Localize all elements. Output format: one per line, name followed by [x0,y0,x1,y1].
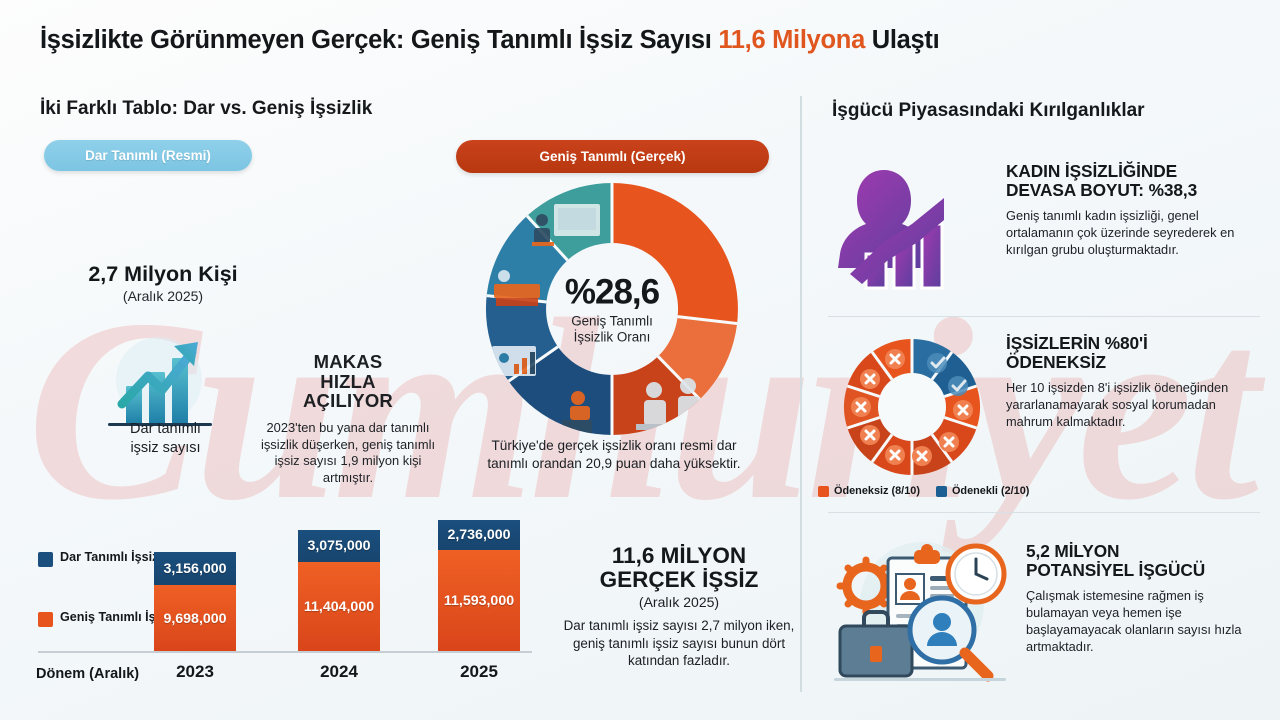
x-tick-2023: 2023 [154,662,236,682]
bar-segment-narrow-2024: 3,075,000 [298,530,380,562]
job-search-illustration-icon [826,530,1012,695]
narrow-stat-value: 2,7 Milyon Kişi [38,262,288,287]
right-section-heading: İşgücü Piyasasındaki Kırılganlıklar [832,100,1145,122]
unemployment-bar-chart: Dar Tanımlı İşsiz Sayısı Geniş Tanımlı İ… [34,512,534,694]
legend-swatch-odenekli [936,486,947,497]
legend-swatch-odeneksiz [818,486,829,497]
bar-segment-broad-2025: 11,593,000 [438,550,520,652]
bar-column-2024: 3,075,000 11,404,000 [298,530,380,652]
x-tick-2024: 2024 [298,662,380,682]
card-potential-text: 5,2 MİLYON POTANSİYEL İŞGÜCÜ Çalışmak is… [1026,530,1268,695]
makas-body: 2023'ten bu yana dar tanımlı işsizlik dü… [252,420,444,487]
legend-label-odenekli: Ödenekli (2/10) [952,485,1029,497]
donut-footnote: Türkiye'de gerçek işsizlik oranı resmi d… [478,437,750,473]
card-potential-body: Çalışmak istemesine rağmen iş bulamayan … [1026,587,1268,655]
donut-center-caption: Geniş Tanımlı İşsizlik Oranı [537,313,687,345]
real-unemployed-block: 11,6 MİLYON GERÇEK İŞSİZ (Aralık 2025) D… [548,544,810,669]
title-highlight: 11,6 Milyona [718,26,865,54]
bar-segment-broad-2023: 9,698,000 [154,585,236,652]
broad-unemployment-donut: %28,6 Geniş Tanımlı İşsizlik Oranı [466,176,758,442]
right-divider-1 [828,316,1260,317]
card-benefit-heading: İŞSİZLERİN %80'İ ÖDENEKSİZ [1006,334,1264,373]
legend-item-odenekli: Ödenekli (2/10) [936,485,1029,497]
card-women-unemployment: KADIN İŞSİZLİĞİNDE DEVASA BOYUT: %38,3 G… [832,162,1264,297]
bar-segment-narrow-2025: 2,736,000 [438,520,520,550]
real-unemployed-period: (Aralık 2025) [548,594,810,610]
donut-center-label: %28,6 Geniş Tanımlı İşsizlik Oranı [537,272,687,345]
bar-column-2023: 3,156,000 9,698,000 [154,552,236,652]
title-part-before: İşsizlikte Görünmeyen Gerçek: Geniş Tanı… [40,26,718,54]
card-potential-heading: 5,2 MİLYON POTANSİYEL İŞGÜCÜ [1026,542,1268,581]
woman-bar-chart-icon [832,162,992,297]
donut-ten-segments-icon [832,334,992,485]
legend-swatch-narrow [38,552,53,567]
card-women-text: KADIN İŞSİZLİĞİNDE DEVASA BOYUT: %38,3 G… [1006,162,1264,297]
clock-icon [948,546,1004,602]
card-potential-workforce: 5,2 MİLYON POTANSİYEL İŞGÜCÜ Çalışmak is… [826,530,1268,695]
title-part-after: Ulaştı [865,26,939,54]
card-women-body: Geniş tanımlı kadın işsizliği, genel ort… [1006,207,1264,258]
benefit-donut-legend: Ödeneksiz (8/10) Ödenekli (2/10) [818,485,1029,497]
x-axis-title: Dönem (Aralık) [36,666,139,682]
donut-ten-segments [844,339,980,475]
bar-column-2025: 2,736,000 11,593,000 [438,520,520,652]
x-tick-2025: 2025 [438,662,520,682]
card-benefit-coverage: İŞSİZLERİN %80'İ ÖDENEKSİZ Her 10 işsizd… [832,334,1264,485]
legend-swatch-broad [38,612,53,627]
card-benefit-body: Her 10 işsizden 8'i işsizlik ödeneğinden… [1006,379,1264,430]
left-section-heading: İki Farklı Tablo: Dar vs. Geniş İşsizlik [40,98,372,120]
narrow-icon-caption: Dar tanımlı işsiz sayısı [78,420,253,457]
narrow-stat-period: (Aralık 2025) [38,288,288,304]
legend-label-odeneksiz: Ödeneksiz (8/10) [834,485,920,497]
bar-segment-broad-2024: 11,404,000 [298,562,380,652]
legend-item-odeneksiz: Ödeneksiz (8/10) [818,485,920,497]
real-unemployed-body: Dar tanımlı işsiz sayısı 2,7 milyon iken… [548,617,810,669]
card-benefit-text: İŞSİZLERİN %80'İ ÖDENEKSİZ Her 10 işsizd… [1006,334,1264,485]
real-unemployed-heading: 11,6 MİLYON GERÇEK İŞSİZ [548,544,810,592]
narrow-stat-block: 2,7 Milyon Kişi (Aralık 2025) [38,262,288,304]
makas-heading: MAKAS HIZLA AÇILIYOR [252,352,444,411]
donut-percent: %28,6 [537,272,687,312]
pill-narrow-definition[interactable]: Dar Tanımlı (Resmi) [44,140,252,171]
bar-segment-narrow-2023: 3,156,000 [154,552,236,585]
page-title: İşsizlikte Görünmeyen Gerçek: Geniş Tanı… [40,26,1250,55]
makas-block: MAKAS HIZLA AÇILIYOR 2023'ten bu yana da… [252,352,444,487]
chart-x-axis [38,651,532,653]
pill-broad-definition[interactable]: Geniş Tanımlı (Gerçek) [456,140,769,173]
card-women-heading: KADIN İŞSİZLİĞİNDE DEVASA BOYUT: %38,3 [1006,162,1264,201]
right-divider-2 [828,512,1260,513]
